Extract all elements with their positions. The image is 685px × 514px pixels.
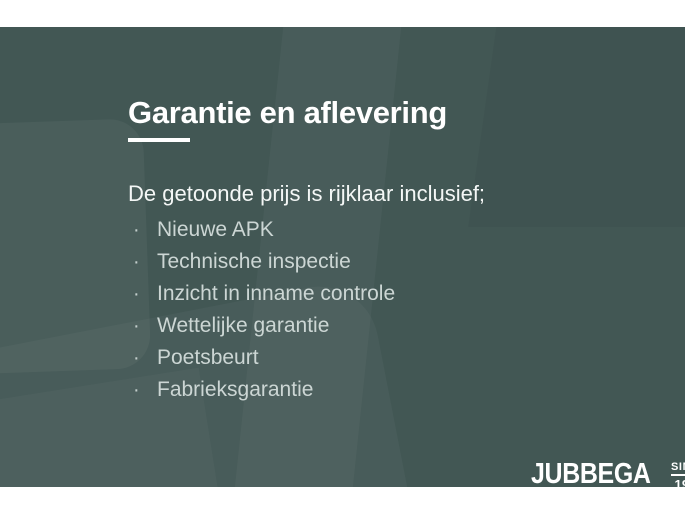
title-block: Garantie en aflevering — [128, 97, 447, 142]
list-item-label: Inzicht in inname controle — [157, 278, 395, 310]
inclusions-list: · Nieuwe APK · Technische inspectie · In… — [128, 214, 648, 406]
logo-established-label: SINDS — [671, 461, 685, 476]
bullet-dot-icon: · — [128, 246, 157, 278]
page-title: Garantie en aflevering — [128, 97, 447, 130]
list-item: · Poetsbeurt — [128, 342, 648, 374]
list-item-label: Nieuwe APK — [157, 214, 274, 246]
list-item-label: Technische inspectie — [157, 246, 351, 278]
list-item: · Wettelijke garantie — [128, 310, 648, 342]
list-item-label: Fabrieksgarantie — [157, 374, 313, 406]
logo-established-block: SINDS 1924 — [671, 457, 685, 487]
title-accent-bar — [128, 138, 190, 142]
list-item-label: Poetsbeurt — [157, 342, 259, 374]
list-item-label: Wettelijke garantie — [157, 310, 329, 342]
slide-canvas: Garantie en aflevering De getoonde prijs… — [0, 27, 685, 487]
bullet-dot-icon: · — [128, 278, 157, 310]
logo-established-year: 1924 — [671, 476, 685, 488]
bullet-dot-icon: · — [128, 214, 157, 246]
logo-wordmark: JUBBEGA — [531, 457, 651, 487]
bullet-dot-icon: · — [128, 310, 157, 342]
brand-logo: JUBBEGA SINDS 1924 — [531, 457, 685, 487]
slide-page: Garantie en aflevering De getoonde prijs… — [0, 0, 685, 514]
slide-content: Garantie en aflevering De getoonde prijs… — [0, 27, 685, 487]
list-item: · Inzicht in inname controle — [128, 278, 648, 310]
list-item: · Nieuwe APK — [128, 214, 648, 246]
bullet-dot-icon: · — [128, 342, 157, 374]
bullet-dot-icon: · — [128, 374, 157, 406]
body-block: De getoonde prijs is rijklaar inclusief;… — [128, 181, 648, 406]
list-item: · Fabrieksgarantie — [128, 374, 648, 406]
list-item: · Technische inspectie — [128, 246, 648, 278]
intro-text: De getoonde prijs is rijklaar inclusief; — [128, 181, 648, 208]
